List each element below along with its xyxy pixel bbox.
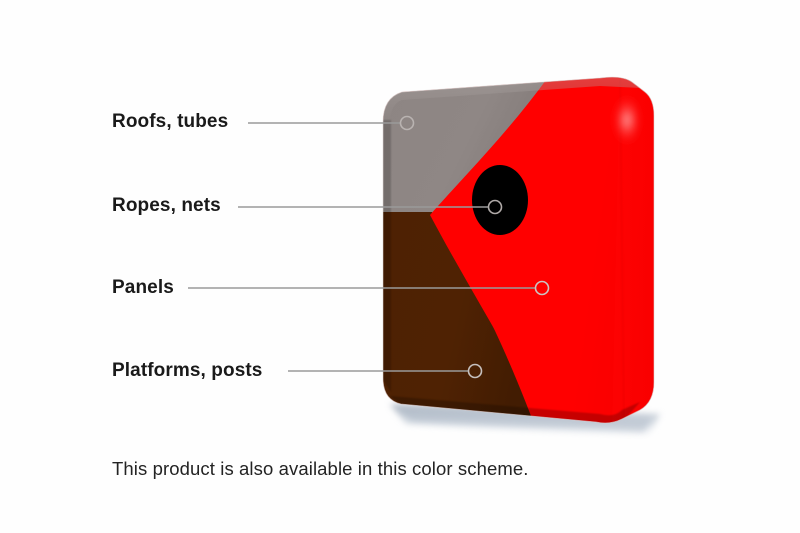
- product-left-bevel: [383, 120, 391, 392]
- product-illustration: [0, 0, 800, 533]
- ropes-nets-zone-black: [472, 165, 528, 235]
- product-specular-highlight: [614, 94, 640, 146]
- callout-label-platforms-posts: Platforms, posts: [112, 361, 262, 380]
- callout-label-roofs-tubes: Roofs, tubes: [112, 112, 228, 131]
- callout-label-ropes-nets: Ropes, nets: [112, 196, 221, 215]
- callout-label-panels: Panels: [112, 278, 174, 297]
- product-body: [370, 60, 690, 440]
- figure-caption: This product is also available in this c…: [112, 458, 529, 480]
- product-color-scheme-figure: Roofs, tubes Ropes, nets Panels Platform…: [0, 0, 800, 533]
